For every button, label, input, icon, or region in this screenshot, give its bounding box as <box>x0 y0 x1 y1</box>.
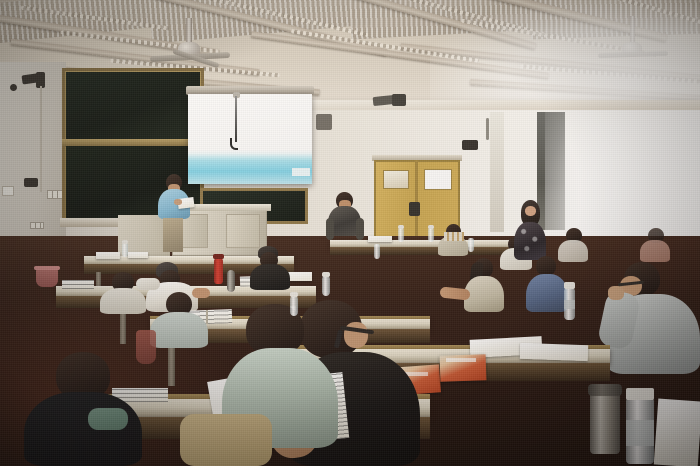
wall-conduit <box>486 118 489 140</box>
projection-screen-highlight <box>292 168 310 176</box>
exam-paper <box>128 252 148 258</box>
window-curtain-light <box>490 112 504 232</box>
water-bottle <box>398 228 404 242</box>
hanging-pull-cord[interactable] <box>235 96 237 142</box>
standing-woman-torso <box>514 222 546 260</box>
bottle-cap <box>398 225 404 229</box>
water-bottle <box>290 296 298 316</box>
cord-hook-icon[interactable] <box>230 138 238 150</box>
exam-paper <box>654 399 700 466</box>
water-bottle <box>468 238 474 252</box>
student-blue-tee-torso <box>526 274 568 312</box>
red-vacuum-flask <box>214 258 223 284</box>
water-bottle <box>374 244 380 259</box>
wall-outlet-plate <box>2 186 14 196</box>
student-grey-hand <box>608 286 624 300</box>
pink-waste-bin <box>36 268 58 287</box>
bench-leg <box>168 342 175 386</box>
wall-knob-icon <box>10 84 17 91</box>
presenter-hand <box>174 199 182 205</box>
student-left-collar <box>88 408 128 430</box>
thermos-cap <box>588 384 622 396</box>
presenter-legs <box>163 218 183 252</box>
student-hand <box>192 288 210 298</box>
water-bottle <box>322 276 330 296</box>
student-arm <box>136 278 160 290</box>
wall-conduit <box>40 86 42 192</box>
door-center-seam <box>415 160 418 242</box>
steel-thermos <box>590 392 620 454</box>
student-left-torso <box>24 392 142 466</box>
bottle-label <box>626 420 654 446</box>
projector-icon <box>392 94 406 106</box>
student-torso <box>150 312 208 348</box>
door-window-pane <box>383 170 409 189</box>
steel-thermos <box>227 270 235 292</box>
chalkboard-upper-panel <box>66 72 200 140</box>
classroom-photograph <box>0 0 700 466</box>
wall-bracket-icon <box>24 178 38 187</box>
proctor-arm <box>326 218 334 240</box>
bottle-cap <box>428 225 434 229</box>
student-striped-shirt <box>444 232 464 241</box>
student-torso <box>640 240 670 262</box>
wall-speaker-icon <box>316 114 332 130</box>
water-bottle <box>428 228 434 242</box>
student-blue-tee-head <box>536 256 556 276</box>
bottle-cap <box>290 292 298 297</box>
exam-paper <box>62 280 94 289</box>
left-wall-panel <box>0 62 66 262</box>
hanging-bag <box>136 330 156 364</box>
bottle-cap <box>564 282 575 289</box>
exam-paper <box>368 236 392 242</box>
door-window-pane <box>424 169 452 190</box>
waste-bin-rim <box>34 266 60 270</box>
flask-cap <box>213 254 224 259</box>
student-dark-torso <box>250 264 290 290</box>
notebook-spine <box>206 310 208 324</box>
light-switch-panel[interactable] <box>30 222 44 229</box>
water-bottle <box>122 243 128 257</box>
bench-desk-front <box>330 247 510 255</box>
wall-speaker-icon <box>462 140 478 150</box>
student-torso <box>100 288 146 314</box>
bottle-cap <box>122 240 128 244</box>
student-mint-polo-pants <box>180 414 272 466</box>
door-handle[interactable] <box>409 202 420 216</box>
bottle-cap <box>626 388 654 400</box>
standing-woman-face <box>525 206 536 216</box>
bottle-cap <box>322 272 330 277</box>
exam-paper <box>96 252 120 259</box>
proctor-arm <box>356 218 364 240</box>
exam-paper <box>520 343 589 361</box>
podium-panel <box>226 214 260 248</box>
bottle-label <box>564 300 575 309</box>
student-torso <box>558 240 588 262</box>
booklet-title-band <box>446 358 476 362</box>
